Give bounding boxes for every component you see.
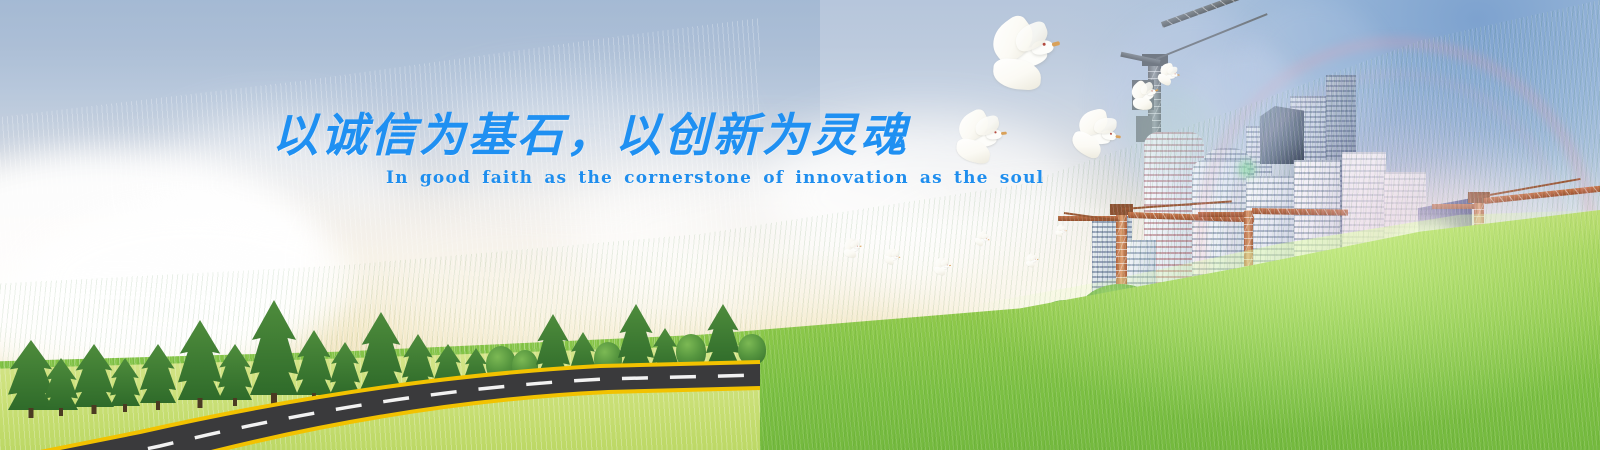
dove-icon xyxy=(930,258,953,276)
page-title: 以诚信为基石，以创新为灵魂 xyxy=(272,99,909,165)
dove-icon xyxy=(942,111,1012,168)
hero-banner: 以诚信为基石，以创新为灵魂 In good faith as the corne… xyxy=(0,0,1600,450)
road xyxy=(0,336,740,450)
dove-icon xyxy=(1152,63,1181,87)
dove-icon xyxy=(1022,254,1040,269)
dove-icon xyxy=(880,248,902,266)
dove-icon xyxy=(1052,225,1067,237)
page-subtitle: In good faith as the cornerstone of inno… xyxy=(386,168,1044,188)
